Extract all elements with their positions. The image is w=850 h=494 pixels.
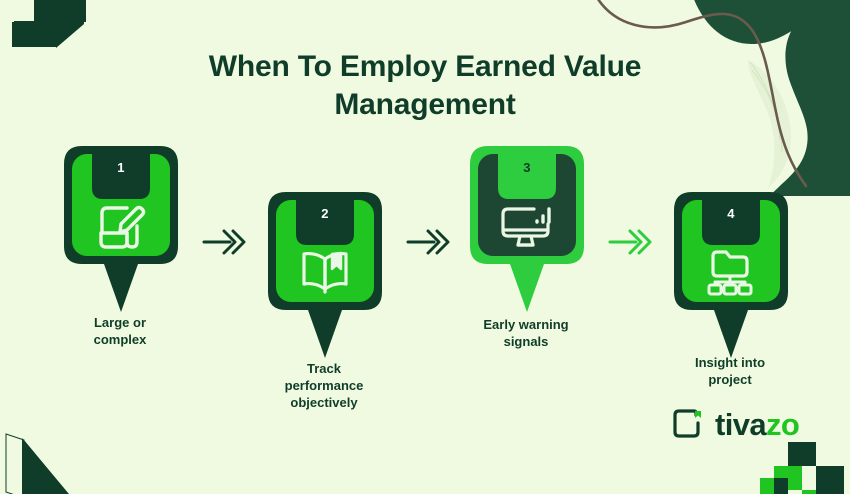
zz-br-5: [830, 466, 844, 494]
blob-top-right-main: [690, 0, 850, 44]
leaf-top-right-shape: [748, 60, 791, 188]
zigzag-top-left-shape: [36, 0, 84, 48]
step-1-pin[interactable]: 1: [62, 144, 180, 319]
step-1: 1 Large or complex: [62, 144, 180, 319]
zz-br-7: [816, 490, 844, 494]
tivazo-logo[interactable]: tivazo: [672, 408, 799, 440]
tivazo-bracket-icon: [672, 408, 704, 440]
monitor-signal-icon: [468, 202, 586, 250]
step-1-number: 1: [62, 160, 180, 175]
step-4-number: 4: [672, 206, 790, 221]
arrow-2-3: [406, 225, 452, 264]
triangle-bottom-left-outline: [6, 434, 24, 494]
zigzag-top-left-shape-2: [14, 0, 84, 47]
zigzag-top-left-block: [12, 22, 56, 47]
tivazo-wordmark: tivazo: [715, 409, 799, 440]
step-4-caption: Insight into project: [650, 354, 810, 388]
step-3: 3 Early warning signals: [468, 144, 586, 319]
zigzag-bottom-right-group: [760, 442, 844, 494]
folder-hierarchy-icon: [672, 246, 790, 296]
zz-br-1: [788, 442, 816, 466]
leaf-vein-1: [750, 62, 780, 140]
zz-br-3: [774, 466, 802, 490]
arrow-3-4: [608, 225, 654, 264]
step-4-pin[interactable]: 4: [672, 190, 790, 365]
step-4: 4 Insight into project: [672, 190, 790, 365]
triangle-bottom-left-shape: [24, 440, 72, 494]
zigzag-top-left-riser: [34, 0, 86, 22]
step-1-caption: Large or complex: [40, 314, 200, 348]
leaf-vein-2: [752, 70, 782, 152]
logo-text-light: zo: [766, 407, 799, 442]
blob-top-right-lobe: [770, 12, 850, 196]
page-title: When To Employ Earned Value Management: [145, 48, 705, 125]
step-3-number: 3: [468, 160, 586, 175]
logo-text-dark: tiva: [715, 407, 766, 442]
zz-br-8: [760, 478, 788, 494]
blob-top-right-shape: [700, 0, 836, 32]
zz-br-2: [788, 442, 802, 490]
arrow-3-4-icon: [608, 225, 654, 259]
zz-br-6: [802, 490, 830, 494]
arrow-2-3-icon: [406, 225, 452, 259]
arrow-1-2: [202, 225, 248, 264]
open-book-icon: [266, 248, 384, 296]
zigzag-top-left-diag: [34, 0, 56, 47]
zz-br-9: [774, 478, 788, 494]
document-pencil-icon: [62, 202, 180, 252]
step-2: 2 Track performance objectively: [266, 190, 384, 365]
triangle-bottom-left-fill: [22, 438, 74, 494]
step-2-pin[interactable]: 2: [266, 190, 384, 365]
step-3-pin[interactable]: 3: [468, 144, 586, 319]
arrow-1-2-icon: [202, 225, 248, 259]
step-3-caption: Early warning signals: [446, 316, 606, 350]
step-2-number: 2: [266, 206, 384, 221]
step-2-caption: Track performance objectively: [244, 360, 404, 411]
infographic-canvas: When To Employ Earned Value Management 1…: [0, 0, 850, 494]
zz-br-4: [816, 466, 844, 490]
